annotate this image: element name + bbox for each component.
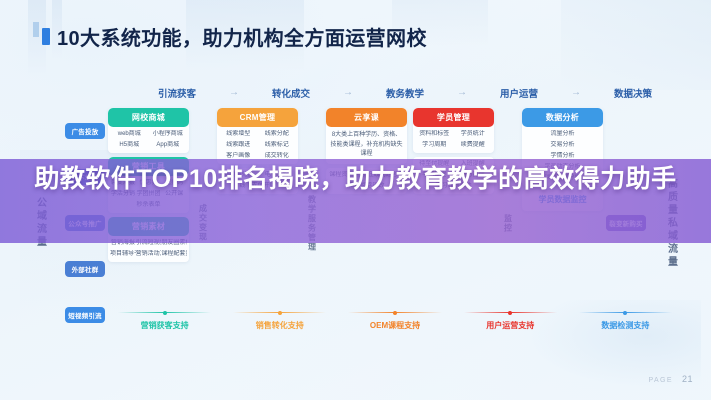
support-row: 营销获客支持 销售转化支持 OEM课程支持 用户运营支持 数据检测支持 [110, 312, 680, 331]
arrow-right-icon: → [562, 88, 590, 98]
arrow-right-icon: → [220, 88, 248, 98]
support-item: 数据检测支持 [571, 312, 680, 331]
flow-steps: 引流获客 → 转化成交 → 教务教学 → 用户运营 → 数据决策 [134, 86, 676, 100]
support-item: 营销获客支持 [110, 312, 219, 331]
flow-step-1: 转化成交 [248, 86, 334, 100]
cell: 小程序商城 [149, 130, 188, 139]
card-student-mgmt[interactable]: 学员管理 资料和标签 学员统计 学习周期 续费提醒 [413, 108, 494, 153]
card-title: 网校商城 [108, 108, 189, 127]
arrow-right-icon: → [334, 88, 362, 98]
support-item: OEM课程支持 [340, 312, 449, 331]
card-cells: web商城 小程序商城 H5商城 App商城 [108, 127, 189, 153]
flow-step-0: 引流获客 [134, 86, 220, 100]
cell: 项目辅导书 [110, 250, 136, 259]
cell: 学习周期 [415, 141, 454, 150]
left-rail-item-4[interactable]: 短视频引流 [65, 307, 105, 323]
support-label: 数据检测支持 [571, 320, 680, 331]
left-rail-item-3[interactable]: 外部社群 [65, 261, 105, 277]
page-title: 10大系统功能，助力机构全方面运营网校 [57, 22, 427, 51]
cell: 营销活动方案 [136, 250, 162, 259]
card-cells: 资料和标签 学员统计 学习周期 续费提醒 [413, 127, 494, 153]
cell: 线索分配 [258, 130, 297, 139]
cell: web商城 [110, 130, 149, 139]
card-title: 学员管理 [413, 108, 494, 127]
support-label: OEM课程支持 [340, 320, 449, 331]
page-marker: PAGE 21 [648, 374, 693, 384]
flow-step-3: 用户运营 [476, 86, 562, 100]
cell: 学员统计 [454, 130, 493, 139]
cell: 线索标记 [258, 141, 297, 150]
flow-step-4: 数据决策 [590, 86, 676, 100]
card-cloud-course[interactable]: 云享课 8大类上百种学历、资格、技能类课程，补充机构缺失课程 [326, 108, 407, 164]
slide-header: 10大系统功能，助力机构全方面运营网校 [42, 22, 427, 51]
card-crm[interactable]: CRM管理 线索增型 线索分配 线索跟进 线索标记 客户画像 成交转化 [217, 108, 298, 164]
left-rail-item-0[interactable]: 广告投放 [65, 123, 105, 139]
page-marker-number: 21 [682, 374, 693, 384]
cell: 流量分析 [524, 130, 601, 139]
support-item: 用户运营支持 [456, 312, 565, 331]
support-label: 销售转化支持 [225, 320, 334, 331]
cell: 资料和标签 [415, 130, 454, 139]
card-title: 云享课 [326, 108, 407, 127]
support-label: 用户运营支持 [456, 320, 565, 331]
quote-mark-icon [42, 28, 50, 45]
decor-panel [561, 0, 711, 90]
card-mall[interactable]: 网校商城 web商城 小程序商城 H5商城 App商城 [108, 108, 189, 153]
arrow-right-icon: → [448, 88, 476, 98]
cell: 交易分析 [524, 141, 601, 150]
cell: App商城 [149, 141, 188, 150]
card-title: 数据分析 [522, 108, 603, 127]
card-title: CRM管理 [217, 108, 298, 127]
cell: 续费提醒 [454, 141, 493, 150]
cell: 线索增型 [219, 130, 258, 139]
slide-canvas: 10大系统功能，助力机构全方面运营网校 引流获客 → 转化成交 → 教务教学 →… [0, 0, 711, 400]
cell: H5商城 [110, 141, 149, 150]
cell: 线索跟进 [219, 141, 258, 150]
flow-step-2: 教务教学 [362, 86, 448, 100]
support-item: 销售转化支持 [225, 312, 334, 331]
support-label: 营销获客支持 [110, 320, 219, 331]
overlay-title: 助教软件TOP10排名揭晓，助力教育教学的高效得力助手 [0, 163, 711, 196]
cell: 课程配套资料 [161, 250, 187, 259]
page-marker-label: PAGE [648, 377, 673, 384]
